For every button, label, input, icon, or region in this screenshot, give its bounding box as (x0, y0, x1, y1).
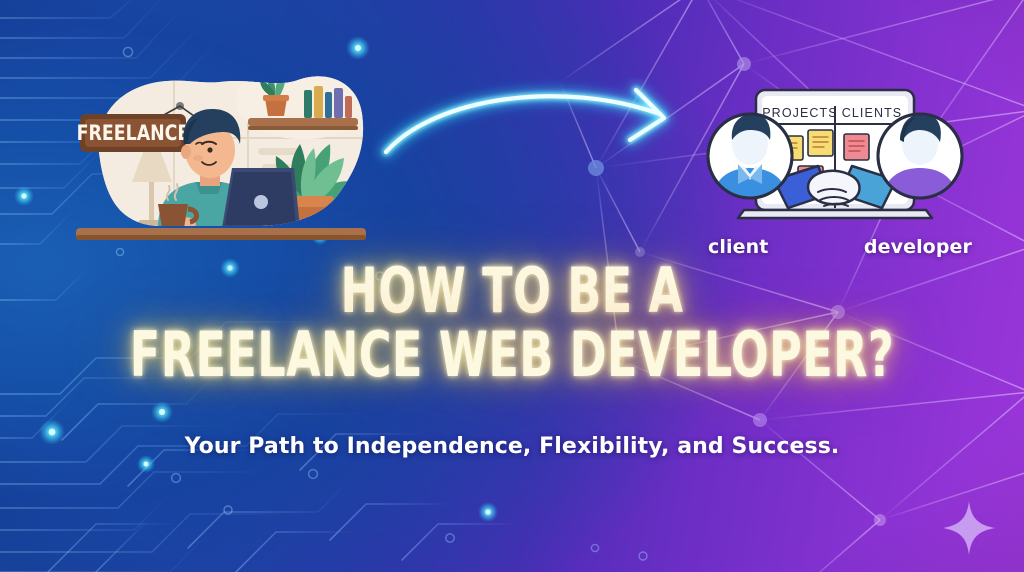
neon-curved-arrow (372, 78, 692, 190)
freelance-sign: FREELANCE (77, 114, 190, 152)
label-developer: developer (864, 236, 972, 258)
freelancer-at-desk-illustration: FREELANCE (62, 52, 374, 256)
headline-line-1: HOW TO BE A (102, 262, 921, 320)
board-column-clients: CLIENTS (842, 106, 903, 120)
label-client: client (708, 236, 768, 258)
headline-line-2: FREELANCE WEB DEVELOPER? (102, 326, 921, 384)
developer-avatar (878, 114, 962, 200)
handshake (808, 171, 860, 206)
four-point-star-icon (940, 498, 998, 558)
role-labels: client developer (692, 232, 978, 262)
page-title: HOW TO BE A FREELANCE WEB DEVELOPER? (0, 262, 1024, 385)
banner-canvas: FREELANCE (0, 0, 1024, 572)
client-avatar (708, 114, 792, 200)
client-developer-handshake-illustration: PROJECTS CLIENTS (692, 88, 978, 226)
sticky-note (844, 134, 869, 160)
board-column-projects: PROJECTS (762, 106, 837, 120)
freelance-sign-text: FREELANCE (77, 120, 190, 145)
wooden-desk (76, 228, 366, 240)
page-subtitle: Your Path to Independence, Flexibility, … (0, 434, 1024, 459)
